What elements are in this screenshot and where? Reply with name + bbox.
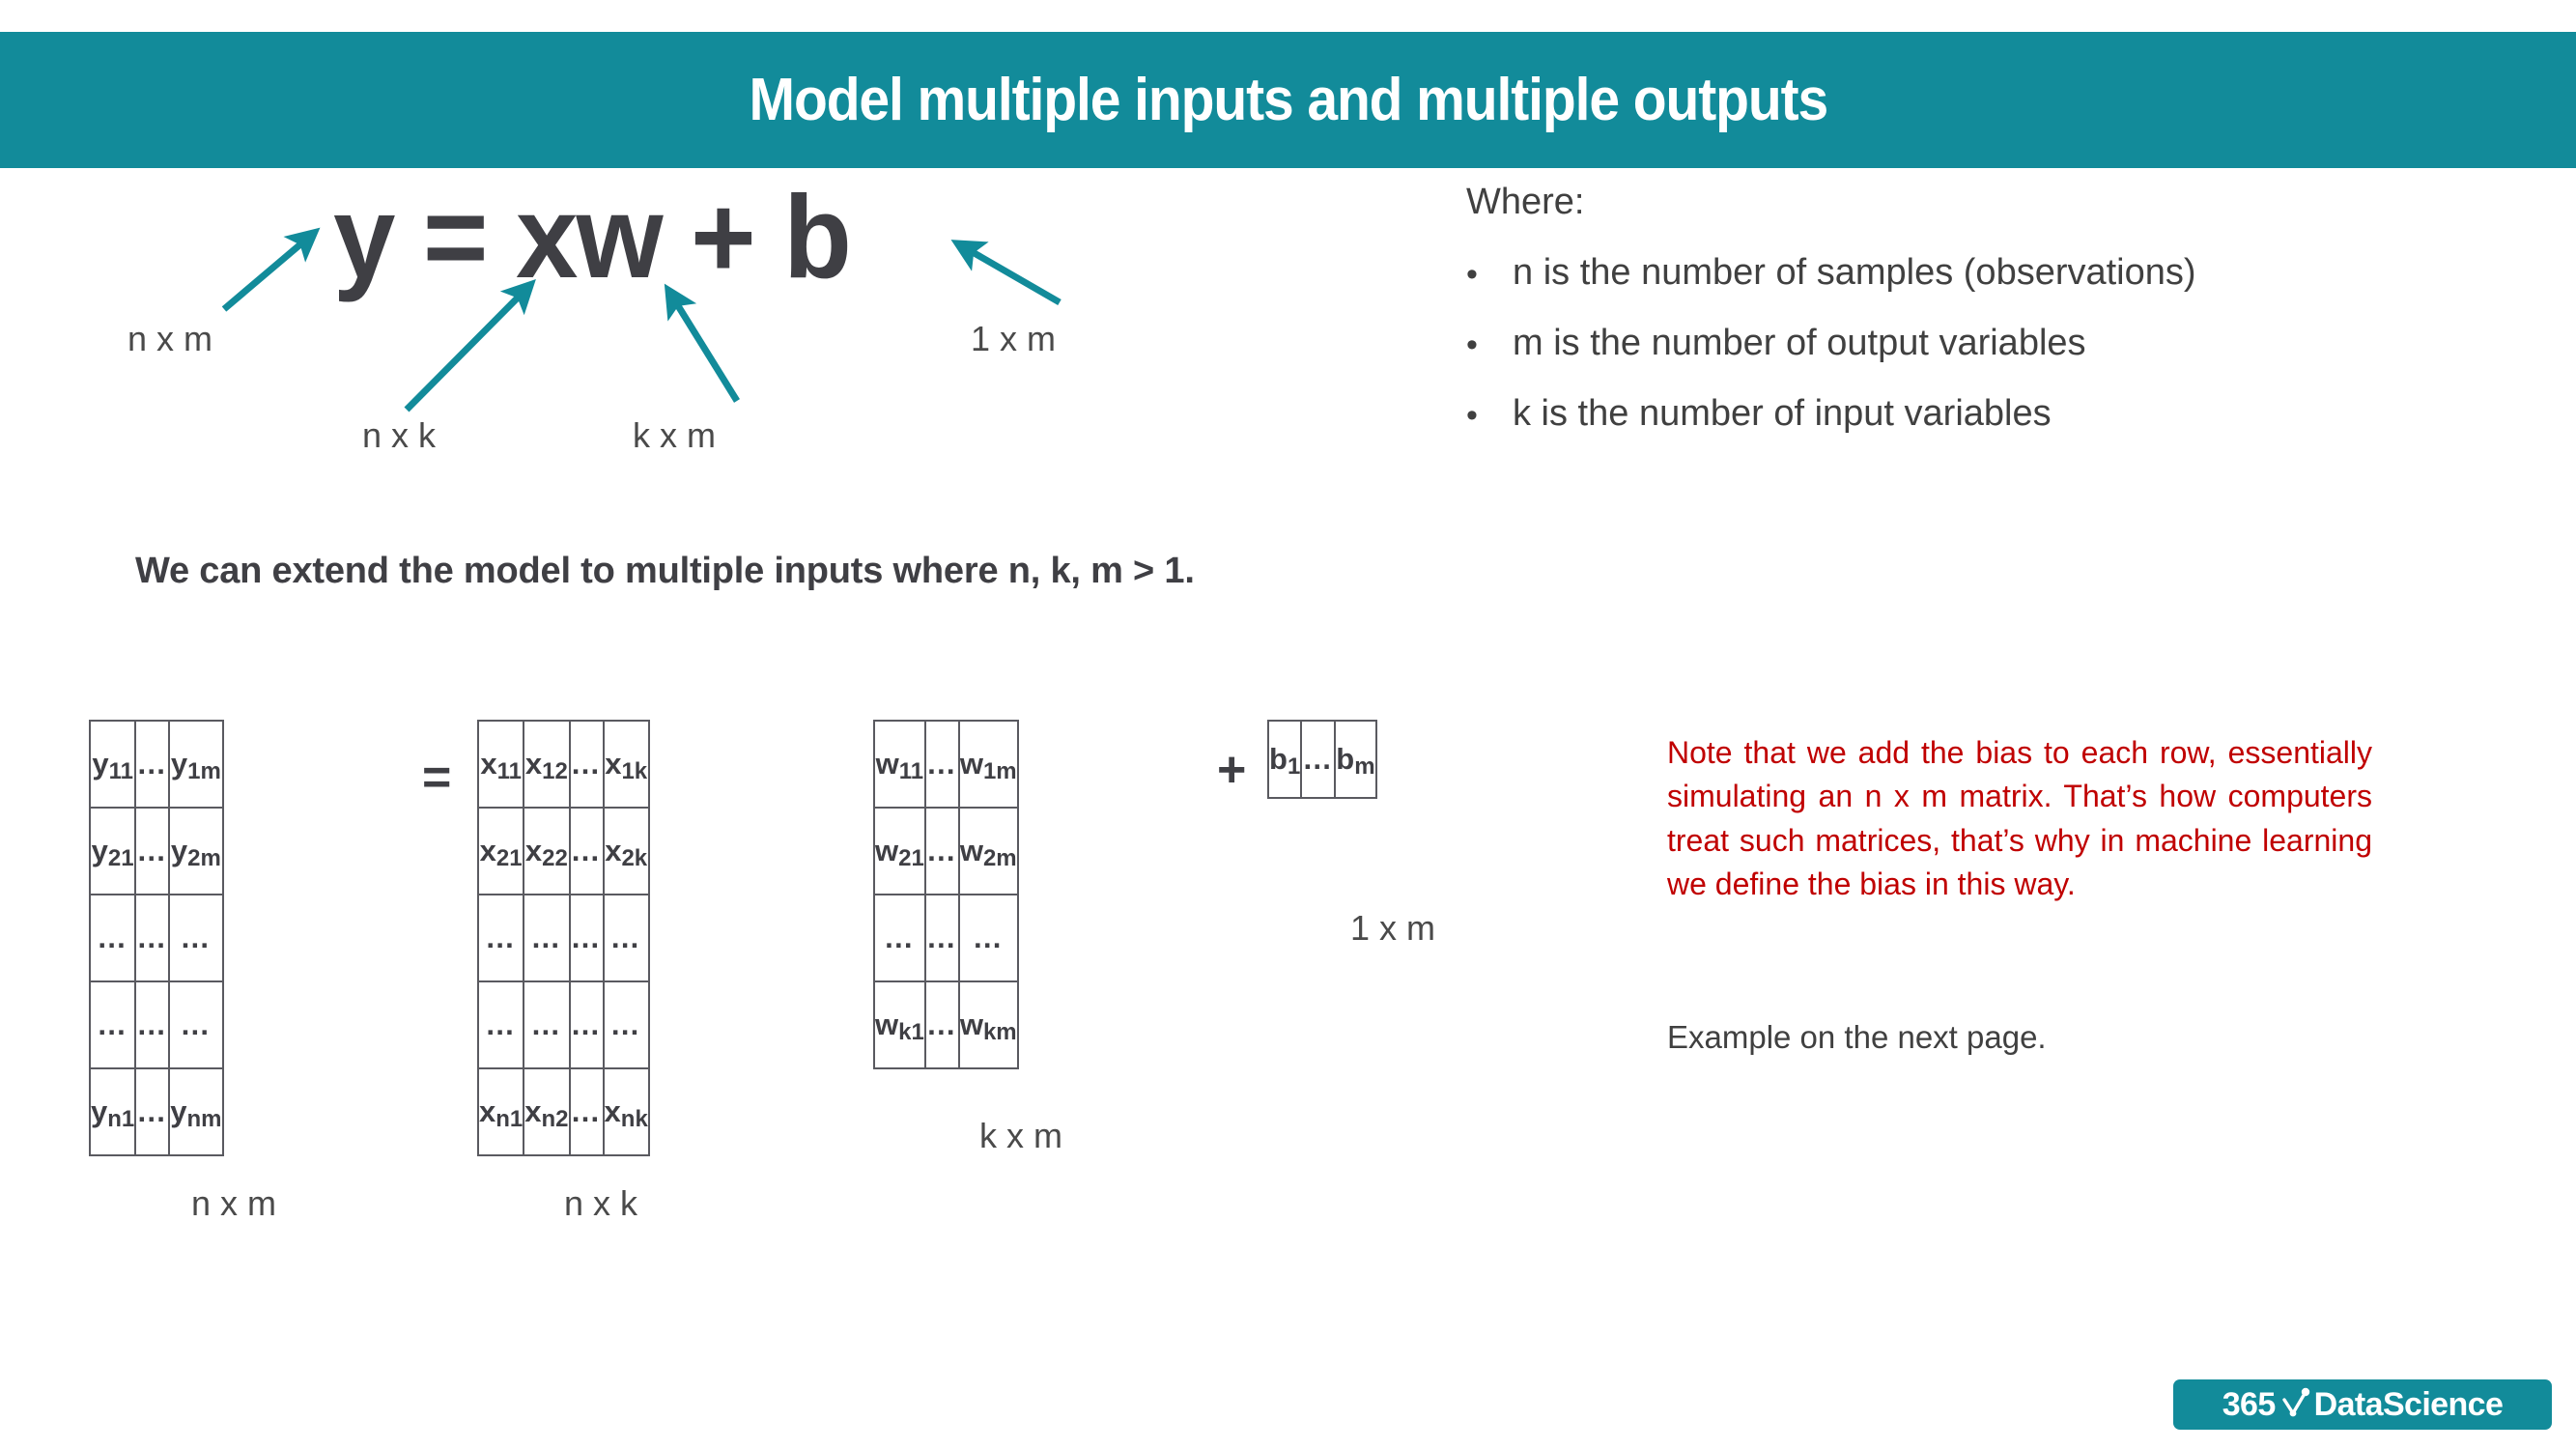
matrix-row: w11…w1m xyxy=(874,721,1018,808)
x-matrix-group: x11x12…x1kx21x22…x2k……………………xn1xn2…xnk xyxy=(477,720,650,1156)
w-matrix-group: w11…w1mw21…w2m………wk1…wkm xyxy=(873,720,1019,1069)
where-item-label: k is the number of input variables xyxy=(1513,393,2432,435)
matrix-cell: wk1 xyxy=(874,981,925,1068)
matrix-row: y21…y2m xyxy=(90,808,223,895)
matrix-cell: x11 xyxy=(478,721,524,808)
matrix-cell: xnk xyxy=(604,1068,649,1155)
matrix-row: ……… xyxy=(874,895,1018,981)
header-banner: Model multiple inputs and multiple outpu… xyxy=(0,32,2576,168)
matrix-cell: xn1 xyxy=(478,1068,524,1155)
where-list-item: • k is the number of input variables xyxy=(1466,393,2432,435)
matrix-cell: y21 xyxy=(90,808,135,895)
matrix-cell: … xyxy=(478,981,524,1068)
plus-sign: + xyxy=(1217,741,1246,799)
matrix-cell: … xyxy=(90,895,135,981)
matrix-cell: … xyxy=(135,981,169,1068)
arrow-to-b xyxy=(959,244,1060,302)
matrix-cell: x21 xyxy=(478,808,524,895)
matrix-cell: … xyxy=(925,895,959,981)
matrix-cell: … xyxy=(135,808,169,895)
matrix-cell: … xyxy=(478,895,524,981)
matrix-cell: wkm xyxy=(959,981,1018,1068)
formula-annotation-y-dim: n x m xyxy=(127,319,212,359)
matrix-cell: y1m xyxy=(169,721,222,808)
extend-statement: We can extend the model to multiple inpu… xyxy=(135,551,1195,592)
matrix-cell: w1m xyxy=(959,721,1018,808)
matrix-row: x11x12…x1k xyxy=(478,721,649,808)
y-matrix-label: n x m xyxy=(79,1183,388,1224)
bias-note: Note that we add the bias to each row, e… xyxy=(1667,731,2372,907)
matrix-row: w21…w2m xyxy=(874,808,1018,895)
matrix-row: ………… xyxy=(478,981,649,1068)
arrow-to-w xyxy=(669,292,737,401)
matrix-cell: x1k xyxy=(604,721,649,808)
matrix-cell: … xyxy=(959,895,1018,981)
equals-sign: = xyxy=(422,749,451,807)
matrix-cell: … xyxy=(925,721,959,808)
matrix-cell: … xyxy=(570,895,604,981)
where-list-item: • m is the number of output variables xyxy=(1466,323,2432,364)
b-matrix-label: 1 x m xyxy=(1253,908,1533,949)
matrix-cell: … xyxy=(604,895,649,981)
matrix-cell: x2k xyxy=(604,808,649,895)
matrix-cell: … xyxy=(570,981,604,1068)
matrix-cell: … xyxy=(604,981,649,1068)
checkmark-graph-icon xyxy=(2279,1386,2311,1423)
matrix-cell: … xyxy=(925,808,959,895)
matrix-cell: bm xyxy=(1335,721,1375,798)
matrix-cell: ynm xyxy=(169,1068,222,1155)
matrix-cell: … xyxy=(524,981,569,1068)
matrix-cell: w11 xyxy=(874,721,925,808)
bullet-icon: • xyxy=(1466,393,1513,432)
matrix-cell: … xyxy=(874,895,925,981)
matrix-cell: b1 xyxy=(1268,721,1301,798)
matrix-cell: … xyxy=(135,721,169,808)
matrix-cell: xn2 xyxy=(524,1068,569,1155)
matrix-cell: y11 xyxy=(90,721,135,808)
matrix-cell: w21 xyxy=(874,808,925,895)
w-matrix-label: k x m xyxy=(862,1116,1180,1156)
page-title: Model multiple inputs and multiple outpu… xyxy=(749,66,1827,134)
formula-expression: y = xw + b xyxy=(333,169,850,304)
matrix-row: x21x22…x2k xyxy=(478,808,649,895)
matrix-cell: x12 xyxy=(524,721,569,808)
where-item-label: n is the number of samples (observations… xyxy=(1513,252,2432,294)
matrix-cell: yn1 xyxy=(90,1068,135,1155)
matrix-row: ……… xyxy=(90,981,223,1068)
matrix-cell: … xyxy=(90,981,135,1068)
arrow-to-x xyxy=(407,286,529,410)
x-matrix: x11x12…x1kx21x22…x2k……………………xn1xn2…xnk xyxy=(477,720,650,1156)
brand-logo: 365 DataScience xyxy=(2173,1379,2552,1430)
bullet-icon: • xyxy=(1466,252,1513,291)
matrix-cell: … xyxy=(169,895,222,981)
bullet-icon: • xyxy=(1466,323,1513,361)
y-matrix-group: y11…y1my21…y2m………………yn1…ynm xyxy=(89,720,224,1156)
arrow-to-y xyxy=(224,234,313,309)
matrix-cell: … xyxy=(570,721,604,808)
logo-suffix: DataScience xyxy=(2314,1388,2504,1421)
logo-prefix: 365 xyxy=(2222,1388,2276,1421)
matrix-row: ………… xyxy=(478,895,649,981)
b-matrix: b1…bm xyxy=(1267,720,1377,799)
matrix-cell: w2m xyxy=(959,808,1018,895)
matrix-row: b1…bm xyxy=(1268,721,1376,798)
matrix-cell: … xyxy=(1301,721,1335,798)
where-block: Where: • n is the number of samples (obs… xyxy=(1466,182,2432,464)
b-matrix-group: b1…bm xyxy=(1267,720,1377,799)
matrix-cell: … xyxy=(570,808,604,895)
where-item-label: m is the number of output variables xyxy=(1513,323,2432,364)
matrix-cell: … xyxy=(570,1068,604,1155)
matrix-cell: x22 xyxy=(524,808,569,895)
x-matrix-label: n x k xyxy=(456,1183,746,1224)
formula-annotation-b-dim: 1 x m xyxy=(971,319,1056,359)
matrix-row: ……… xyxy=(90,895,223,981)
w-matrix: w11…w1mw21…w2m………wk1…wkm xyxy=(873,720,1019,1069)
y-matrix: y11…y1my21…y2m………………yn1…ynm xyxy=(89,720,224,1156)
formula-annotation-w-dim: k x m xyxy=(633,415,716,456)
matrix-row: yn1…ynm xyxy=(90,1068,223,1155)
where-heading: Where: xyxy=(1466,182,2432,223)
matrix-row: y11…y1m xyxy=(90,721,223,808)
where-list-item: • n is the number of samples (observatio… xyxy=(1466,252,2432,294)
matrix-cell: y2m xyxy=(169,808,222,895)
matrix-cell: … xyxy=(135,1068,169,1155)
matrix-cell: … xyxy=(524,895,569,981)
matrix-row: wk1…wkm xyxy=(874,981,1018,1068)
matrix-cell: … xyxy=(925,981,959,1068)
matrix-cell: … xyxy=(135,895,169,981)
matrix-row: xn1xn2…xnk xyxy=(478,1068,649,1155)
example-note: Example on the next page. xyxy=(1667,1019,2382,1056)
matrix-cell: … xyxy=(169,981,222,1068)
formula-annotation-x-dim: n x k xyxy=(362,415,436,456)
